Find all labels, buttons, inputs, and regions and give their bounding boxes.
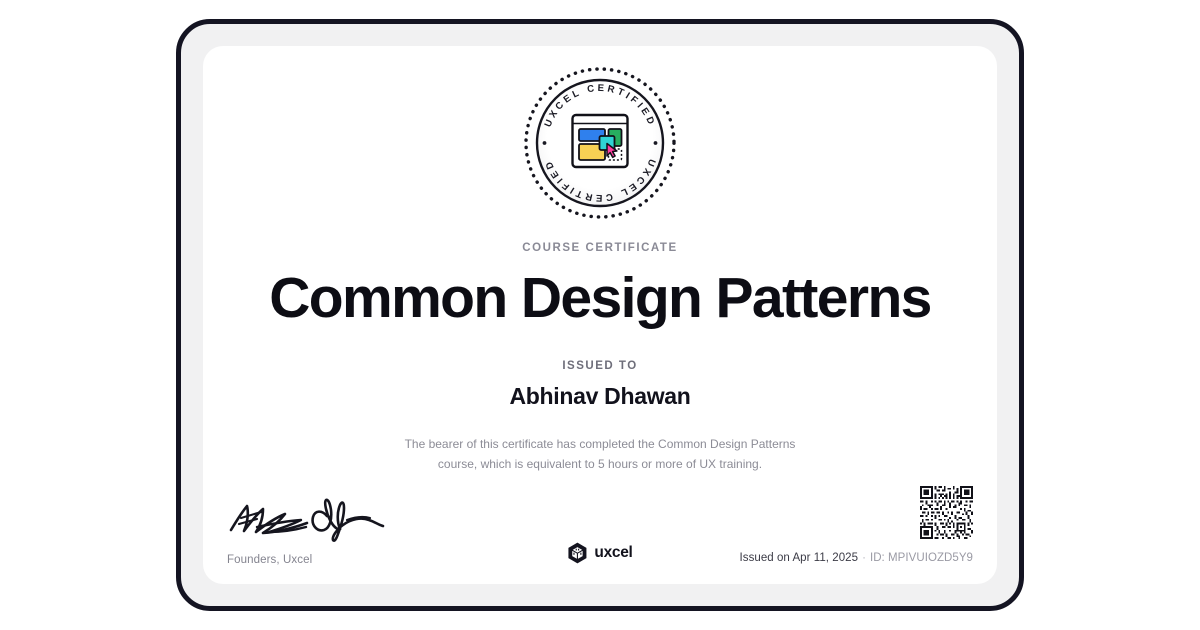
certificate-frame: UXCEL CERTIFIED UXCEL CERTIFIED	[176, 19, 1024, 611]
certificate-id: ID: MPIVUIOZD5Y9	[870, 552, 973, 564]
certificate-meta: Issued on Apr 11, 2025·ID: MPIVUIOZD5Y9	[740, 552, 973, 564]
certificate-title: Common Design Patterns	[203, 265, 997, 331]
certificate-page: UXCEL CERTIFIED UXCEL CERTIFIED	[0, 0, 1200, 630]
uxcel-hexagon-cube-logo-icon	[567, 542, 587, 564]
certificate-description: The bearer of this certificate has compl…	[385, 434, 815, 474]
certificate-description-line-2: course, which is equivalent to 5 hours o…	[438, 457, 762, 471]
verification-qr-code[interactable]	[920, 486, 973, 539]
issued-to-label: ISSUED TO	[203, 360, 997, 372]
meta-separator: ·	[858, 552, 870, 564]
handwritten-signatures-icon	[227, 496, 392, 548]
design-patterns-window-icon	[573, 115, 628, 167]
signature-caption: Founders, Uxcel	[227, 554, 427, 566]
uxcel-wordmark: uxcel	[594, 544, 632, 562]
certificate-card: UXCEL CERTIFIED UXCEL CERTIFIED	[203, 46, 997, 584]
issued-on-date: Issued on Apr 11, 2025	[740, 552, 859, 564]
recipient-name: Abhinav Dhawan	[203, 383, 997, 410]
certificate-eyebrow: COURSE CERTIFICATE	[203, 242, 997, 254]
certificate-description-line-1: The bearer of this certificate has compl…	[405, 437, 796, 451]
signature-block: Founders, Uxcel	[227, 496, 427, 566]
uxcel-brand-logo: uxcel	[567, 542, 632, 564]
verification-qr-code-icon[interactable]	[920, 486, 973, 539]
uxcel-certified-seal: UXCEL CERTIFIED UXCEL CERTIFIED	[520, 63, 680, 223]
